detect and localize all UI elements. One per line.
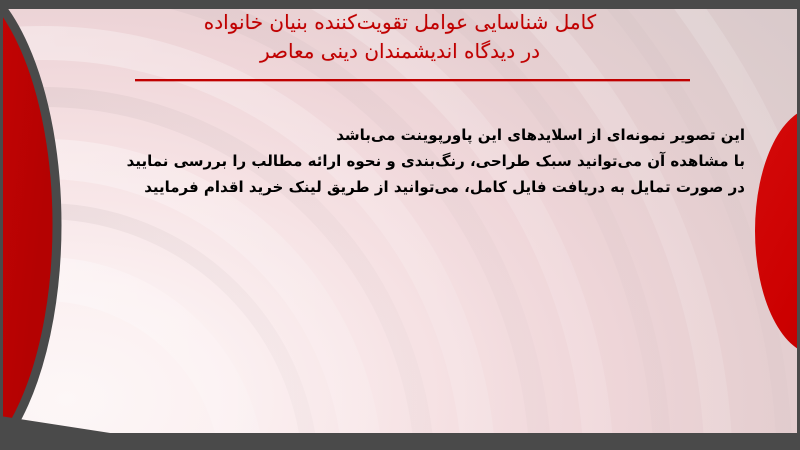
slide-title: کامل شناسایی عوامل تقویت‌کننده بنیان خان… xyxy=(70,8,730,66)
slide-body-line-2: با مشاهده آن می‌توانید سبک طراحی، رنگ‌بن… xyxy=(55,148,745,174)
frame-top-band xyxy=(0,0,800,9)
slide-title-line-2: در دیدگاه اندیشمندان دینی معاصر xyxy=(70,37,730,66)
slide-title-line-1: کامل شناسایی عوامل تقویت‌کننده بنیان خان… xyxy=(70,8,730,37)
slide-body: این تصویر نمونه‌ای از اسلایدهای این پاور… xyxy=(55,122,745,200)
left-red-lens-shape xyxy=(0,0,65,450)
slide-canvas: کامل شناسایی عوامل تقویت‌کننده بنیان خان… xyxy=(0,0,800,450)
slide-body-line-3: در صورت تمایل به دریافت فایل کامل، می‌تو… xyxy=(55,174,745,200)
slide-title-underline xyxy=(135,79,690,81)
slide-body-line-1: این تصویر نمونه‌ای از اسلایدهای این پاور… xyxy=(55,122,745,148)
frame-left-edge xyxy=(0,0,3,450)
right-red-circle-shape xyxy=(737,107,797,355)
slide-background xyxy=(3,9,797,433)
background-arc-pattern xyxy=(3,9,797,433)
frame-bottom-band xyxy=(0,433,800,450)
